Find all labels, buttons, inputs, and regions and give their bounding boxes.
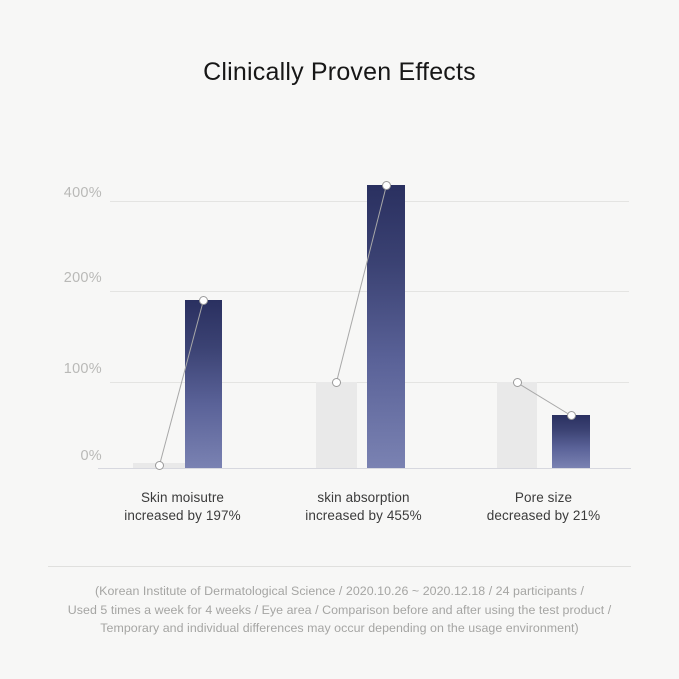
footnote-divider <box>48 566 631 567</box>
marker-before-group-1 <box>155 461 164 470</box>
ytick-label-0: 0% <box>32 448 102 464</box>
footnote-line-1: (Korean Institute of Dermatological Scie… <box>0 582 679 601</box>
category-label-group-2-line2: increased by 455% <box>280 507 447 525</box>
chart-page: Clinically Proven Effects 400% 200% 100%… <box>0 0 679 679</box>
bar-after-group-1 <box>185 300 222 468</box>
category-label-group-3-line1: Pore size <box>460 489 627 507</box>
category-label-group-3-line2: decreased by 21% <box>460 507 627 525</box>
category-label-group-1-line2: increased by 197% <box>100 507 265 525</box>
footnote-line-2: Used 5 times a week for 4 weeks / Eye ar… <box>0 601 679 620</box>
category-label-group-1-line1: Skin moisutre <box>100 489 265 507</box>
ytick-label-100: 100% <box>32 361 102 377</box>
footnote-line-3: Temporary and individual differences may… <box>0 619 679 638</box>
bar-before-group-2 <box>316 382 357 468</box>
marker-after-group-3 <box>567 411 576 420</box>
axis-baseline-0 <box>98 468 631 469</box>
marker-after-group-2 <box>382 181 391 190</box>
footnote-block: (Korean Institute of Dermatological Scie… <box>0 582 679 638</box>
ytick-label-200: 200% <box>32 270 102 286</box>
marker-before-group-2 <box>332 378 341 387</box>
ytick-label-400: 400% <box>32 185 102 201</box>
chart-plot-area: 400% 200% 100% 0% Skin moisutre increase… <box>0 0 679 679</box>
bar-after-group-3 <box>552 415 590 468</box>
bar-before-group-3 <box>497 382 537 468</box>
marker-after-group-1 <box>199 296 208 305</box>
category-label-group-2-line1: skin absorption <box>280 489 447 507</box>
marker-before-group-3 <box>513 378 522 387</box>
category-label-group-3: Pore size decreased by 21% <box>460 489 627 525</box>
category-label-group-1: Skin moisutre increased by 197% <box>100 489 265 525</box>
bar-after-group-2 <box>367 185 405 468</box>
category-label-group-2: skin absorption increased by 455% <box>280 489 447 525</box>
